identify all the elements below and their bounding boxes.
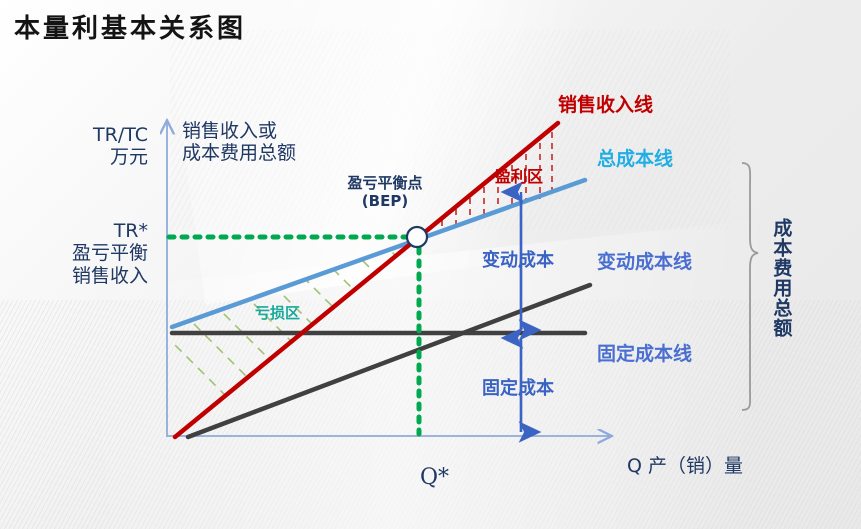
y-tick-label-line1: TR* — [20, 220, 148, 242]
variable-cost-line — [188, 285, 590, 437]
total-cost-line-label: 总成本线 — [597, 148, 673, 170]
bep-marker[interactable] — [407, 227, 427, 247]
y-axis-caption-line2: 成本费用总额 — [182, 142, 296, 164]
y-axis-title-line2: 万元 — [58, 146, 148, 168]
y-axis-caption: 销售收入或 成本费用总额 — [182, 120, 296, 165]
cost-total-bracket-label: 成本费用总额 — [770, 218, 792, 338]
variable-cost-line-label: 变动成本线 — [597, 251, 692, 273]
y-tick-label-group: TR* 盈亏平衡 销售收入 — [20, 220, 148, 287]
revenue-line-label: 销售收入线 — [558, 94, 653, 116]
y-axis-caption-line1: 销售收入或 — [182, 120, 296, 142]
y-axis-title: TR/TC 万元 — [58, 124, 148, 169]
loss-zone-label: 亏损区 — [255, 305, 300, 323]
x-tick-label: Q* — [420, 465, 449, 491]
bep-annotation-line2: (BEP) — [330, 193, 440, 211]
fixed-cost-measure-label: 固定成本 — [482, 378, 554, 399]
y-tick-label-line2: 盈亏平衡 — [20, 242, 148, 264]
y-tick-label-line3: 销售收入 — [20, 265, 148, 287]
x-axis-title: Q 产（销）量 — [627, 455, 743, 477]
cost-total-bracket — [742, 163, 758, 410]
y-axis-title-line1: TR/TC — [58, 124, 148, 146]
variable-cost-measure-label: 变动成本 — [482, 250, 554, 271]
slide-canvas: 本量利基本关系图 — [0, 0, 861, 529]
bep-annotation: 盈亏平衡点 (BEP) — [330, 175, 440, 210]
profit-zone-label: 盈利区 — [495, 168, 543, 187]
bep-annotation-line1: 盈亏平衡点 — [330, 175, 440, 193]
fixed-cost-line-label: 固定成本线 — [597, 343, 692, 365]
